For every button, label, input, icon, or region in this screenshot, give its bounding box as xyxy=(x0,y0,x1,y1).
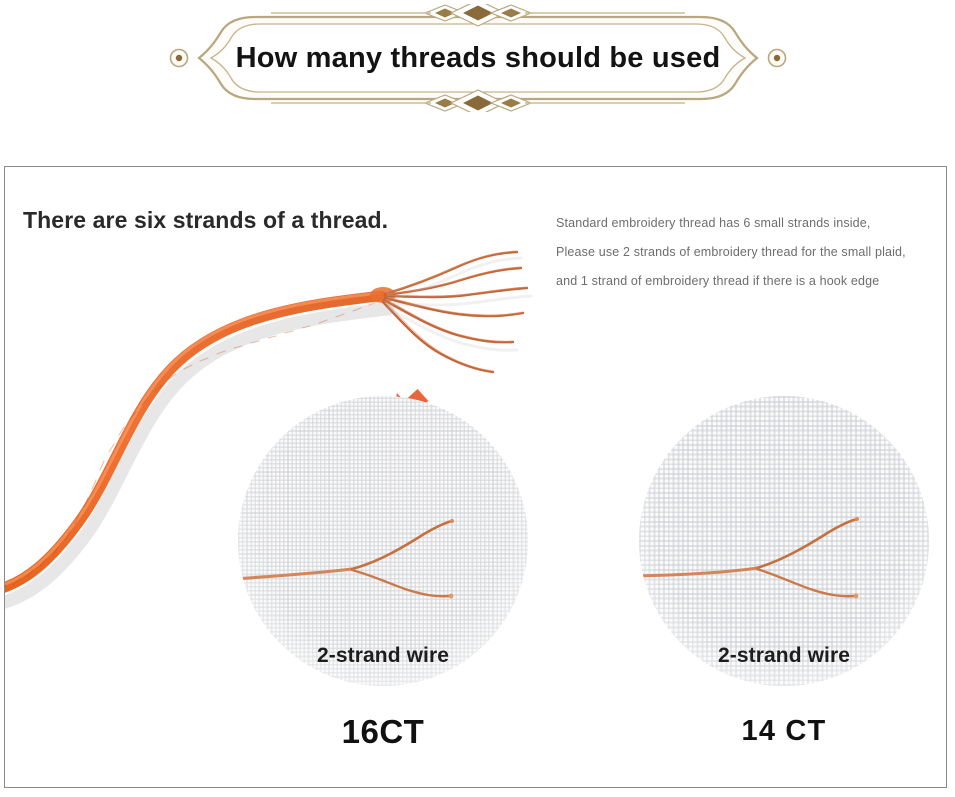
ct-caption-14ct: 14 CT xyxy=(639,715,929,748)
circle-label-16ct: 2-strand wire xyxy=(238,644,528,668)
note-line-2: Please use 2 strands of embroidery threa… xyxy=(556,238,947,267)
page-title: How many threads should be used xyxy=(163,4,793,112)
ct-caption-16ct: 16CT xyxy=(238,713,528,751)
note-line-3: and 1 strand of embroidery thread if the… xyxy=(556,267,947,296)
instruction-note: Standard embroidery thread has 6 small s… xyxy=(556,209,947,296)
two-strand-thread-graphic xyxy=(639,396,929,686)
fabric-sample-14ct: 2-strand wire xyxy=(639,396,929,686)
title-banner: How many threads should be used xyxy=(163,4,793,112)
two-strand-thread-graphic xyxy=(238,396,528,686)
panel-heading: There are six strands of a thread. xyxy=(23,207,388,234)
circle-label-14ct: 2-strand wire xyxy=(639,644,929,668)
instruction-photo-panel: There are six strands of a thread. Stand… xyxy=(4,166,947,788)
fabric-sample-16ct: 2-strand wire xyxy=(238,396,528,686)
six-separated-strands xyxy=(383,252,527,372)
note-line-1: Standard embroidery thread has 6 small s… xyxy=(556,209,947,238)
